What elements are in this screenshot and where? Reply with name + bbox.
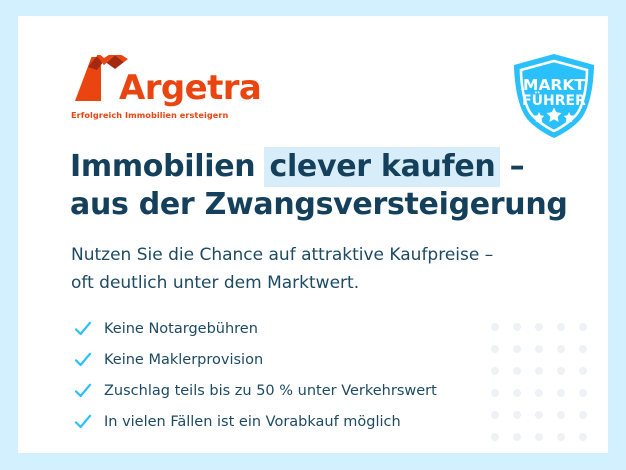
headline-part-before: Immobilien <box>70 149 265 184</box>
decoration-dot <box>491 389 499 397</box>
logo-mark-row: Argetra <box>71 60 261 106</box>
decoration-dot <box>579 411 587 419</box>
benefit-list: Keine NotargebührenKeine Maklerprovision… <box>74 313 437 437</box>
benefit-item-label: Keine Maklerprovision <box>104 351 263 369</box>
benefit-item: Keine Notargebühren <box>74 313 437 344</box>
decoration-dot <box>535 433 543 441</box>
dot-grid-decoration <box>484 316 594 453</box>
decoration-dot <box>491 345 499 353</box>
decoration-dot <box>513 345 521 353</box>
logo-tagline: Erfolgreich Immobilien ersteigern <box>71 110 261 120</box>
decoration-dot <box>579 389 587 397</box>
decoration-dot <box>579 323 587 331</box>
decoration-dot <box>535 389 543 397</box>
decoration-dot <box>491 411 499 419</box>
banner-card: Argetra Erfolgreich Immobilien ersteiger… <box>18 16 608 453</box>
benefit-item: Keine Maklerprovision <box>74 344 437 375</box>
benefit-item-label: In vielen Fällen ist ein Vorabkauf mögli… <box>104 413 401 431</box>
check-icon <box>74 351 92 369</box>
badge-line1-text: MARKT <box>523 76 585 94</box>
decoration-dot <box>557 389 565 397</box>
subtitle-line-2: oft deutlich unter dem Marktwert. <box>71 269 493 297</box>
decoration-dot <box>491 433 499 441</box>
decoration-dot <box>579 367 587 375</box>
decoration-dot <box>513 411 521 419</box>
badge-line2-text: FÜHRER <box>522 91 586 109</box>
headline: Immobilien clever kaufen – aus der Zwang… <box>70 148 568 224</box>
decoration-dot <box>513 389 521 397</box>
decoration-dot <box>535 367 543 375</box>
benefit-item-label: Keine Notargebühren <box>104 320 258 338</box>
decoration-dot <box>513 433 521 441</box>
decoration-dot <box>579 345 587 353</box>
headline-line-1: Immobilien clever kaufen – <box>70 148 568 186</box>
check-icon <box>74 382 92 400</box>
headline-highlight: clever kaufen <box>264 147 500 187</box>
benefit-item: Zuschlag teils bis zu 50 % unter Verkehr… <box>74 375 437 406</box>
logo-wordmark: Argetra <box>119 71 261 105</box>
benefit-item: In vielen Fällen ist ein Vorabkauf mögli… <box>74 406 437 437</box>
decoration-dot <box>513 323 521 331</box>
decoration-dot <box>535 345 543 353</box>
argetra-logo[interactable]: Argetra Erfolgreich Immobilien ersteiger… <box>71 60 261 120</box>
decoration-dot <box>557 345 565 353</box>
market-leader-badge: MARKT FÜHRER <box>508 52 600 140</box>
decoration-dot <box>535 411 543 419</box>
check-icon <box>74 320 92 338</box>
decoration-dot <box>535 323 543 331</box>
decoration-dot <box>557 411 565 419</box>
decoration-dot <box>491 323 499 331</box>
benefit-item-label: Zuschlag teils bis zu 50 % unter Verkehr… <box>104 382 437 400</box>
decoration-dot <box>557 323 565 331</box>
banner-frame: Argetra Erfolgreich Immobilien ersteiger… <box>0 0 626 470</box>
subtitle-line-1: Nutzen Sie die Chance auf attraktive Kau… <box>71 241 493 269</box>
decoration-dot <box>557 367 565 375</box>
subtitle: Nutzen Sie die Chance auf attraktive Kau… <box>71 241 493 297</box>
headline-line-2: aus der Zwangsversteigerung <box>70 186 568 224</box>
decoration-dot <box>491 367 499 375</box>
decoration-dot <box>513 367 521 375</box>
decoration-dot <box>579 433 587 441</box>
decoration-dot <box>557 433 565 441</box>
headline-part-after: – <box>499 149 524 184</box>
check-icon <box>74 413 92 431</box>
